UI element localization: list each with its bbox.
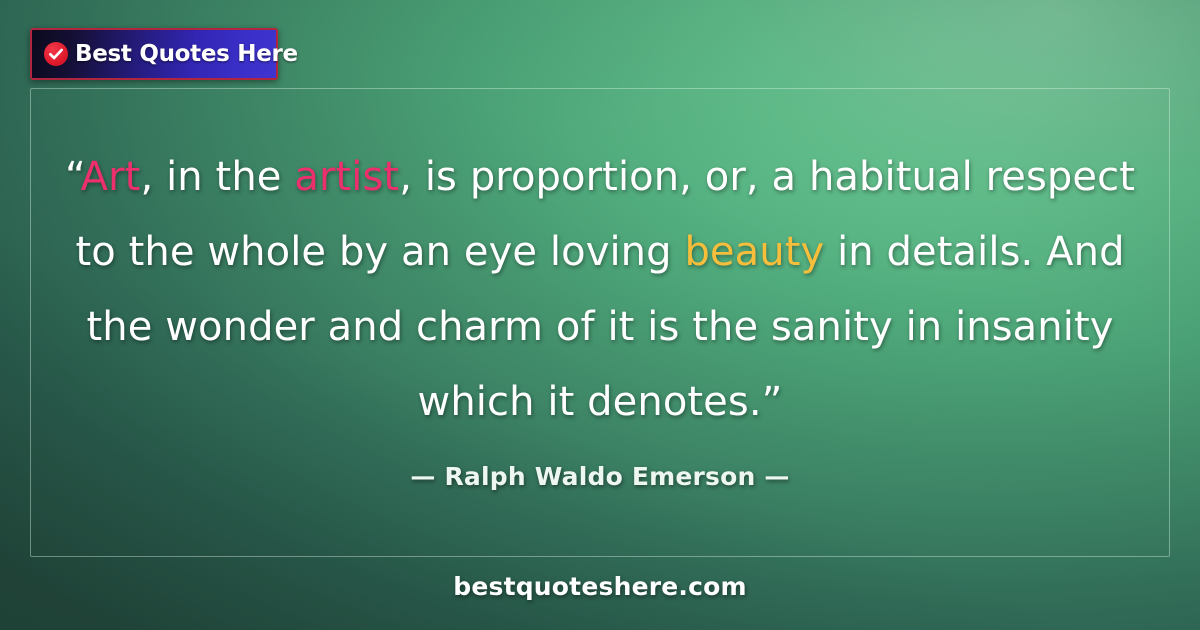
quote-segment-pink: artist — [294, 154, 399, 200]
brand-badge-label: Best Quotes Here — [75, 41, 298, 67]
quote-segment-pink: Art — [81, 154, 141, 200]
quote-card: Best Quotes Here “Art, in the artist, is… — [0, 0, 1200, 630]
site-url: bestquoteshere.com — [0, 572, 1200, 601]
quote-text: “Art, in the artist, is proportion, or, … — [60, 140, 1140, 440]
quote-segment-plain: “ — [65, 154, 81, 200]
check-circle-icon — [44, 42, 68, 66]
brand-badge[interactable]: Best Quotes Here — [30, 28, 278, 80]
quote-author: — Ralph Waldo Emerson — — [0, 462, 1200, 491]
quote-segment-plain: , in the — [140, 154, 294, 200]
quote-segment-gold: beauty — [684, 229, 824, 275]
